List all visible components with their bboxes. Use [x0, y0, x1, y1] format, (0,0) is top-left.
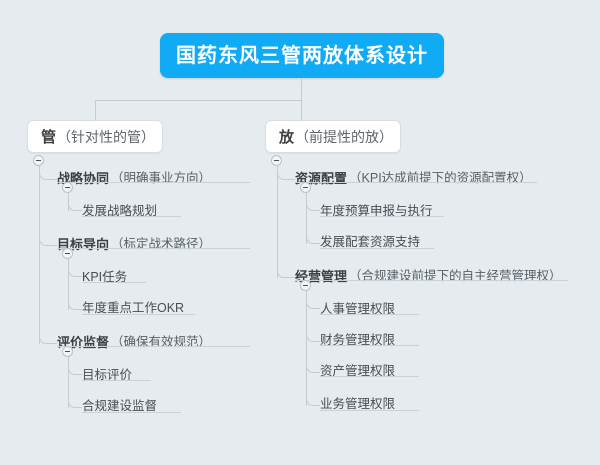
underline-leaf-1-1-left [82, 314, 195, 315]
underline-leaf-1-3-right [320, 410, 419, 411]
elbow-guan-group-2 [39, 330, 57, 344]
collapse-toggle-group-1-right[interactable] [300, 280, 311, 291]
group-node-0-right-subtitle: （KPI达成前提下的资源配置权） [349, 171, 532, 186]
elbow-guan-group-0 [39, 166, 57, 180]
underline-leaf-0-0-right [320, 216, 444, 217]
underline-leaf-1-1-right [320, 345, 419, 346]
underline-group-0-left [57, 182, 250, 183]
leaf-node-2-1-left[interactable]: 合规建设监督 [82, 394, 157, 414]
connector-to-branch-right [301, 100, 302, 120]
elbow-fang-group-1 [277, 264, 295, 278]
collapse-toggle-group-0-right[interactable] [300, 182, 311, 193]
elbow-leaf-1-0-left [68, 259, 82, 277]
branch-node-guan[interactable]: 管 （针对性的管） [27, 120, 163, 153]
elbow-leaf-0-0-left [68, 193, 82, 211]
underline-leaf-2-1-left [82, 412, 181, 413]
collapse-toggle-guan[interactable] [33, 155, 44, 166]
elbow-guan-group-1 [39, 232, 57, 246]
elbow-leaf-1-1-right [306, 322, 320, 342]
underline-group-0-right [295, 182, 537, 183]
branch-node-guan-title: 管 [41, 126, 56, 147]
root-node-label: 国药东风三管两放体系设计 [176, 46, 428, 66]
underline-leaf-0-0-left [82, 216, 181, 217]
collapse-toggle-group-0-left[interactable] [62, 182, 73, 193]
elbow-leaf-0-0-right [306, 193, 320, 211]
branch-node-guan-subtitle: （针对性的管） [57, 127, 155, 147]
branch-node-fang-title: 放 [279, 126, 294, 147]
elbow-leaf-2-0-left [68, 357, 82, 375]
underline-leaf-0-1-right [320, 248, 434, 249]
elbow-leaf-1-1-left [68, 290, 82, 310]
elbow-leaf-1-3-right [306, 386, 320, 406]
root-node[interactable]: 国药东风三管两放体系设计 [160, 33, 444, 78]
underline-group-1-left [57, 248, 250, 249]
elbow-leaf-2-1-left [68, 388, 82, 408]
connector-root-stem [301, 78, 302, 100]
underline-leaf-2-0-left [82, 380, 151, 381]
collapse-toggle-group-1-left[interactable] [62, 248, 73, 259]
group-node-0-left-subtitle: （明确事业方向） [111, 171, 211, 186]
elbow-leaf-1-0-right [306, 291, 320, 309]
leaf-node-1-3-right[interactable]: 业务管理权限 [320, 392, 395, 412]
leaf-node-0-1-right[interactable]: 发展配套资源支持 [320, 230, 420, 250]
underline-leaf-1-0-right [320, 314, 419, 315]
spine-guan [39, 166, 40, 344]
underline-group-2-left [57, 346, 250, 347]
elbow-leaf-0-1-right [306, 224, 320, 244]
spine-fang [277, 166, 278, 278]
connector-to-branch-left [95, 100, 96, 120]
group-node-1-left-subtitle: （标定战术路径） [111, 237, 211, 252]
underline-group-1-right [295, 280, 568, 281]
underline-leaf-1-0-left [82, 282, 146, 283]
connector-root-bus [95, 100, 302, 101]
branch-node-fang-subtitle: （前提性的放） [295, 127, 393, 147]
group-node-1-right-subtitle: （合规建设前提下的自主经营管理权） [349, 269, 562, 284]
mindmap-canvas: 国药东风三管两放体系设计 管 （针对性的管） 战略协同 （明确事业方向） 发展战… [0, 0, 600, 465]
elbow-leaf-1-2-right [306, 353, 320, 373]
collapse-toggle-group-2-left[interactable] [62, 346, 73, 357]
group-node-2-left-subtitle: （确保有效规范） [111, 335, 211, 350]
leaf-node-1-1-left[interactable]: 年度重点工作OKR [82, 296, 184, 316]
elbow-fang-group-0 [277, 166, 295, 180]
branch-node-fang[interactable]: 放 （前提性的放） [265, 120, 401, 153]
collapse-toggle-fang[interactable] [271, 155, 282, 166]
underline-leaf-1-2-right [320, 376, 419, 377]
